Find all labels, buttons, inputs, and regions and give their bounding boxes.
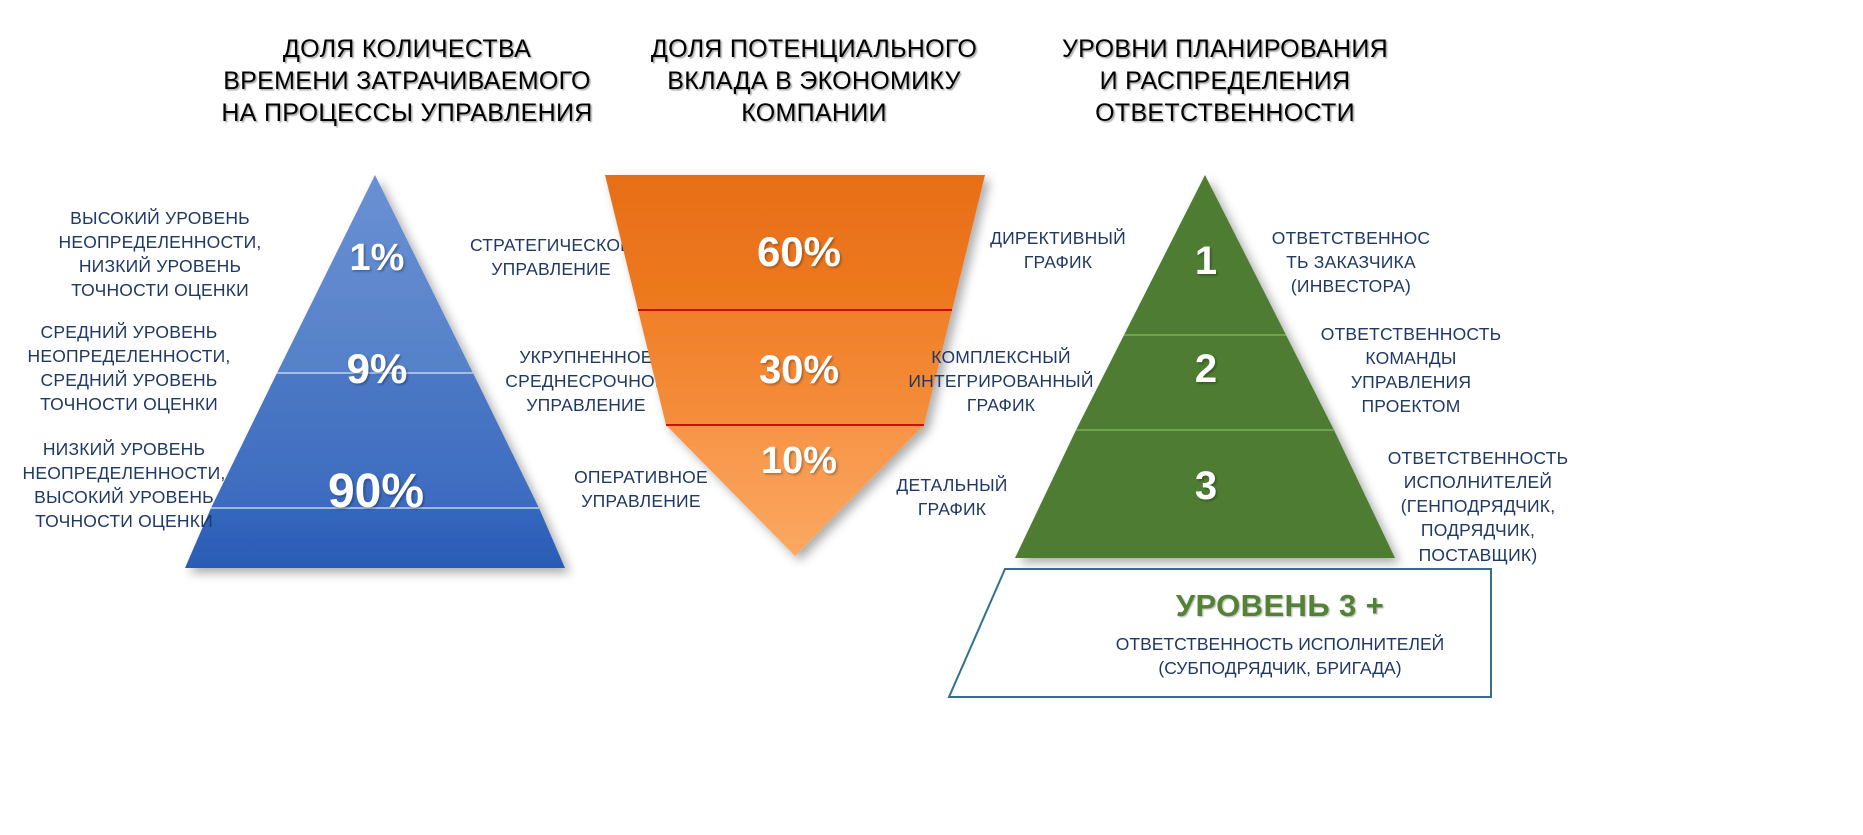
blue-tier-2 bbox=[211, 373, 539, 508]
blue-tier-1-left-label: ВЫСОКИЙ УРОВЕНЬ НЕОПРЕДЕЛЕННОСТИ, НИЗКИЙ… bbox=[10, 206, 310, 303]
green-tier-2-right-label: ОТВЕТСТВЕННОСТЬ КОМАНДЫ УПРАВЛЕНИЯ ПРОЕК… bbox=[1318, 322, 1504, 419]
blue-tier-2-left-label: СРЕДНИЙ УРОВЕНЬ НЕОПРЕДЕЛЕННОСТИ, СРЕДНИ… bbox=[10, 320, 248, 417]
green-tier-3 bbox=[1015, 430, 1395, 558]
green-tier-1 bbox=[1124, 175, 1286, 335]
infographic-canvas: ДОЛЯ КОЛИЧЕСТВА ВРЕМЕНИ ЗАТРАЧИВАЕМОГО Н… bbox=[0, 0, 1863, 835]
orange-tier-1 bbox=[605, 175, 985, 310]
column-header-time-share: ДОЛЯ КОЛИЧЕСТВА ВРЕМЕНИ ЗАТРАЧИВАЕМОГО Н… bbox=[192, 33, 622, 129]
level-3-plus-subtitle: ОТВЕТСТВЕННОСТЬ ИСПОЛНИТЕЛЕЙ (СУБПОДРЯДЧ… bbox=[1055, 633, 1505, 680]
column-header-planning-levels: УРОВНИ ПЛАНИРОВАНИЯ И РАСПРЕДЕЛЕНИЯ ОТВЕ… bbox=[1035, 33, 1415, 129]
green-tier-1-right-label: ОТВЕТСТВЕННОС ТЬ ЗАКАЗЧИКА (ИНВЕСТОРА) bbox=[1268, 226, 1434, 298]
level-3-plus-title: УРОВЕНЬ 3 + bbox=[1080, 588, 1480, 624]
green-tier-2 bbox=[1076, 335, 1334, 430]
column-header-economic-contribution: ДОЛЯ ПОТЕНЦИАЛЬНОГО ВКЛАДА В ЭКОНОМИКУ К… bbox=[635, 33, 993, 129]
green-tier-3-right-label: ОТВЕТСТВЕННОСТЬ ИСПОЛНИТЕЛЕЙ (ГЕНПОДРЯДЧ… bbox=[1378, 446, 1578, 567]
blue-tier-3-left-label: НИЗКИЙ УРОВЕНЬ НЕОПРЕДЕЛЕННОСТИ, ВЫСОКИЙ… bbox=[4, 437, 244, 534]
